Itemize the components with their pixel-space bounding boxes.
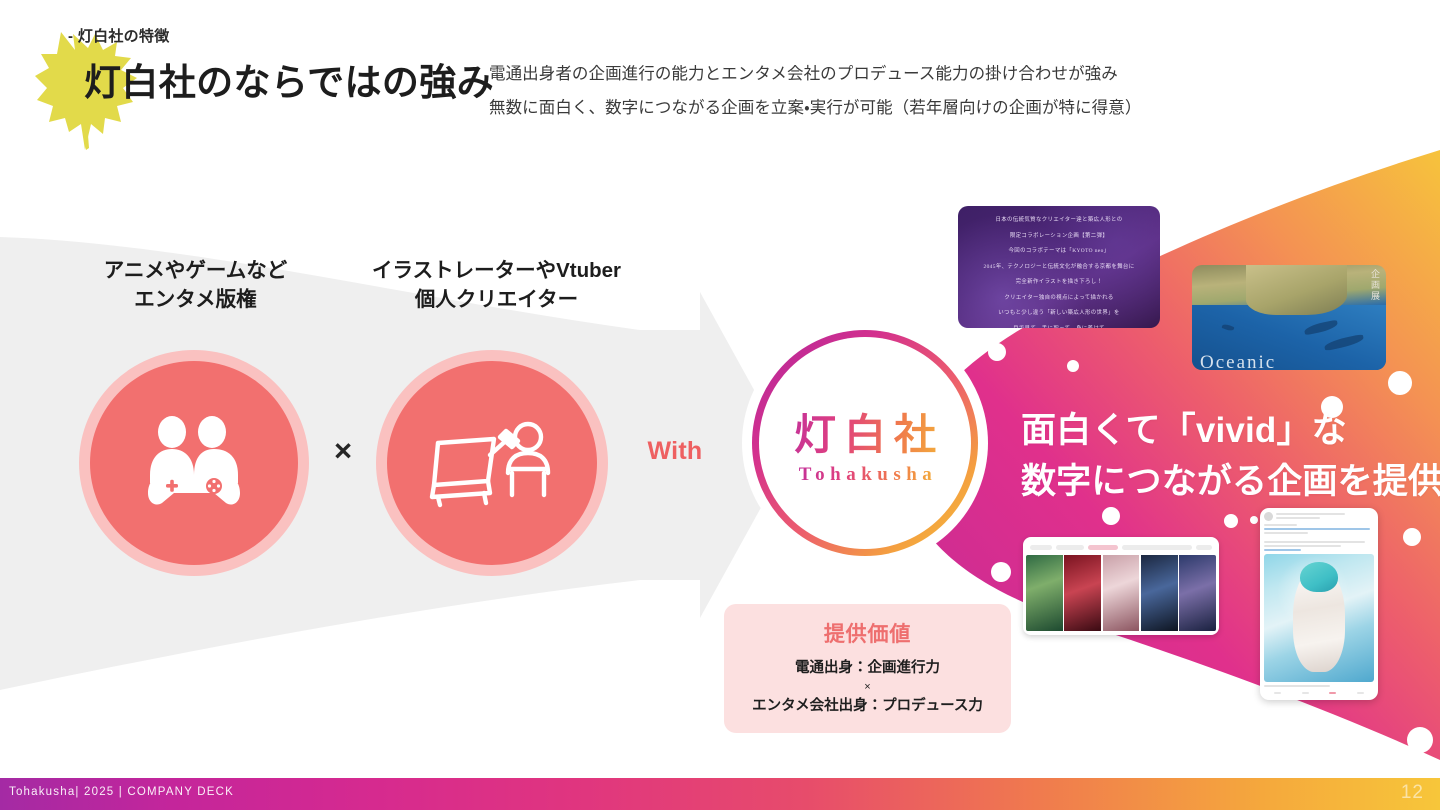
post-image-hair [1300, 562, 1337, 593]
ocean-title-label: Oceanic [1200, 352, 1276, 370]
oceanic-exhibition-card: 企画展 Oceanic [1192, 265, 1386, 370]
like-icon[interactable] [1329, 692, 1336, 695]
post-actions [1264, 689, 1374, 695]
post-body-lines [1264, 524, 1374, 551]
kyoto-card-text: 日本の伝統気質なクリエイター達と築広人形との 限定コラボレーション企画【第二弾】… [958, 206, 1160, 328]
kyoto-line-2: 限定コラボレーション企画【第二弾】 [970, 231, 1148, 242]
ocean-vertical-label: 企画展 [1367, 269, 1381, 302]
eyebrow-label: - 灯白社の特徴 [68, 25, 170, 46]
column-b-line-2: 個人クリエイター [415, 288, 578, 311]
value-box-line-1: 電通出身：企画進行力 [724, 657, 1011, 680]
gamepad-players-icon [138, 413, 250, 513]
logo-romaji: Tohakusha [793, 464, 938, 486]
headline-line-2: 数字につながる企画を提供 [1021, 457, 1440, 508]
tablet-gallery-card [1023, 537, 1219, 635]
post-body-line [1264, 541, 1365, 543]
post-body-line [1264, 528, 1370, 530]
kyoto-line-7: いつもと少し違う「新しい築広人形の世界」を [970, 308, 1148, 319]
browser-brand-pill [1088, 545, 1118, 550]
post-body-line [1264, 545, 1341, 547]
phone-social-post-card [1260, 508, 1378, 700]
reply-icon[interactable] [1274, 692, 1281, 695]
header-description: 電通出身者の企画進行の能力とエンタメ会社のプロデュース能力の掛け合わせが強み 無… [489, 58, 1279, 126]
post-author-handle [1276, 517, 1320, 519]
post-header [1264, 512, 1374, 521]
avatar [1264, 512, 1273, 521]
tohakusha-logo: 灯白社 Tohakusha [752, 330, 978, 556]
headline: 面白くて「vivid」な 数字につながる企画を提供 [1021, 406, 1440, 508]
column-b-line-1: イラストレーターやVtuber [372, 259, 621, 282]
post-body-line [1264, 524, 1297, 526]
footer-text: Tohakusha| 2025 | COMPANY DECK [9, 786, 234, 798]
multiply-operator: × [325, 433, 361, 469]
kyoto-line-5: 完全新作イラストを描き下ろし！ [970, 277, 1148, 288]
column-a-label: アニメやゲームなど エンタメ版権 [98, 256, 293, 314]
page-number: 12 [1401, 782, 1424, 804]
post-timestamp [1264, 685, 1330, 687]
gallery-item [1179, 555, 1216, 631]
header-description-line-1: 電通出身者の企画進行の能力とエンタメ会社のプロデュース能力の掛け合わせが強み [489, 58, 1279, 92]
gallery-item [1141, 555, 1178, 631]
browser-icons-pill [1196, 545, 1212, 550]
value-box-operator: × [724, 680, 1011, 694]
gallery-item [1026, 555, 1063, 631]
browser-menu-pill [1122, 545, 1192, 550]
kyoto-line-4: 2045年、テクノロジーと伝統文化が融合する京都を舞台に [970, 262, 1148, 273]
value-box-line-2: エンタメ会社出身：プロデュース力 [724, 695, 1011, 718]
column-b-label: イラストレーターやVtuber 個人クリエイター [364, 256, 629, 314]
kyoto-line-1: 日本の伝統気質なクリエイター達と築広人形との [970, 215, 1148, 226]
gallery-strip [1026, 555, 1216, 631]
browser-url-pill [1030, 545, 1052, 550]
ocean-rocks [1246, 265, 1347, 315]
column-a-line-2: エンタメ版権 [134, 288, 256, 311]
post-body-line [1264, 549, 1301, 551]
header-description-line-2: 無数に面白く、数字につながる企画を立案・実行が可能（若年層向けの企画が特に得意） [489, 92, 1279, 126]
post-image [1264, 554, 1374, 682]
value-box-title: 提供価値 [724, 618, 1011, 648]
gallery-item [1103, 555, 1140, 631]
share-icon[interactable] [1357, 692, 1364, 695]
gallery-item [1064, 555, 1101, 631]
post-author-name [1276, 513, 1345, 515]
kyoto-collab-card: 日本の伝統気質なクリエイター達と築広人形との 限定コラボレーション企画【第二弾】… [958, 206, 1160, 328]
creator-vtuber-bubble [376, 350, 608, 576]
illustrator-tablet-icon [428, 411, 556, 515]
kyoto-line-3: 今回のコラボテーマは「KYOTO neo」 [970, 246, 1148, 257]
kyoto-line-8: 目で見て、手に取って、身に着けて [970, 324, 1148, 328]
column-a-line-1: アニメやゲームなど [104, 259, 287, 282]
kyoto-line-6: クリエイター独自の視点によって描かれる [970, 293, 1148, 304]
value-proposition-box: 提供価値 電通出身：企画進行力 × エンタメ会社出身：プロデュース力 [724, 604, 1011, 733]
retweet-icon[interactable] [1302, 692, 1309, 695]
tablet-browser-bar [1026, 540, 1216, 555]
slide-root: - 灯白社の特徴 灯白社のならではの強み 電通出身者の企画進行の能力とエンタメ会… [0, 0, 1440, 810]
browser-nav-pill [1056, 545, 1084, 550]
footer-bar: Tohakusha| 2025 | COMPANY DECK 12 [0, 778, 1440, 810]
logo-inner: 灯白社 Tohakusha [759, 337, 971, 549]
logo-kanji: 灯白社 [786, 401, 944, 462]
page-title: 灯白社のならではの強み [84, 52, 494, 106]
headline-line-1: 面白くて「vivid」な [1021, 406, 1440, 457]
with-label: With [637, 437, 713, 466]
post-body-line [1264, 532, 1308, 534]
entertainment-ip-bubble [79, 350, 309, 576]
post-author-lines [1276, 513, 1374, 521]
